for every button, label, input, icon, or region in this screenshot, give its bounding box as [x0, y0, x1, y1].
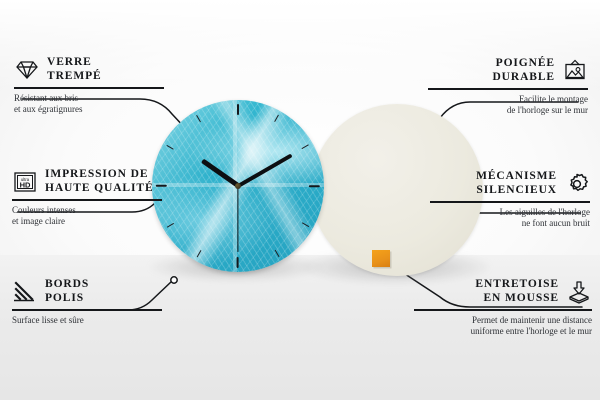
hour-marker [237, 104, 239, 186]
svg-text:HD: HD [20, 180, 31, 189]
hour-marker [156, 185, 238, 187]
callout-impression-haute-qualite: ultra HD IMPRESSION DE HAUTE QUALITÉ Cou… [12, 168, 162, 228]
callout-entretoise-en-mousse: ENTRETOISE EN MOUSSE Permet de maintenir… [414, 278, 592, 338]
ultra-hd-icon: ultra HD [12, 169, 38, 195]
hands-cap [235, 183, 241, 189]
callout-rule [428, 88, 588, 90]
diamond-icon [14, 57, 40, 83]
callout-subtitle: Surface lisse et sûre [12, 315, 162, 327]
callout-subtitle: Les aiguilles de l'horloge ne font aucun… [430, 207, 590, 230]
callout-title: BORDS POLIS [45, 278, 89, 305]
callout-verre-trempe: VERRE TREMPÉ Résistant aux bris et aux é… [14, 56, 164, 116]
callout-title: IMPRESSION DE HAUTE QUALITÉ [45, 168, 154, 195]
callout-subtitle: Couleurs intenses et image claire [12, 205, 162, 228]
callout-poignee-durable: POIGNÉE DURABLE Facilite le montage de l… [428, 57, 588, 117]
callout-rule [12, 199, 162, 201]
callout-rule [14, 87, 164, 89]
picture-hanger-icon [562, 58, 588, 84]
callout-mecanisme-silencieux: MÉCANISME SILENCIEUX Les aiguilles de l'… [430, 170, 590, 230]
callout-bords-polis: BORDS POLIS Surface lisse et sûre [12, 278, 162, 326]
callout-rule [430, 201, 590, 203]
gear-icon [564, 171, 590, 197]
callout-title: POIGNÉE DURABLE [492, 57, 555, 84]
callout-rule [414, 309, 592, 311]
callout-rule [12, 309, 162, 311]
callout-subtitle: Facilite le montage de l'horloge sur le … [428, 94, 588, 117]
clock-face [152, 100, 324, 272]
foam-spacer [372, 250, 390, 267]
callout-title: VERRE TREMPÉ [47, 56, 102, 83]
foam-spacer-icon [566, 279, 592, 305]
callout-subtitle: Permet de maintenir une distance uniform… [414, 315, 592, 338]
product-infographic: VERRE TREMPÉ Résistant aux bris et aux é… [0, 0, 600, 400]
hour-marker [238, 185, 320, 187]
callout-title: ENTRETOISE EN MOUSSE [475, 278, 559, 305]
callout-title: MÉCANISME SILENCIEUX [476, 170, 557, 197]
callout-subtitle: Résistant aux bris et aux égratignures [14, 93, 164, 116]
polished-edges-icon [12, 279, 38, 305]
